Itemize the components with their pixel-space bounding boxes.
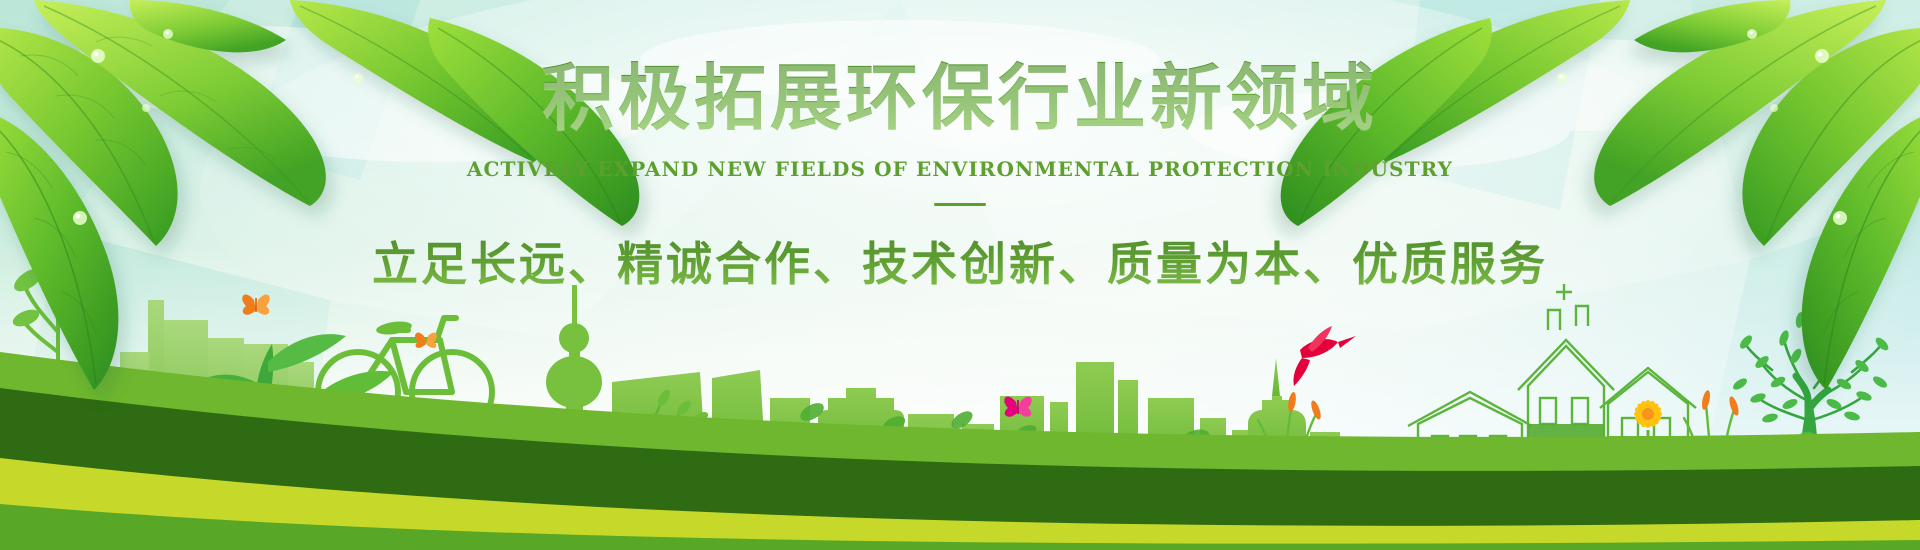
- leaf-cluster-right: [0, 0, 1920, 550]
- eco-banner: 积极拓展环保行业新领域 ACTIVELY EXPAND NEW FIELDS O…: [0, 0, 1920, 550]
